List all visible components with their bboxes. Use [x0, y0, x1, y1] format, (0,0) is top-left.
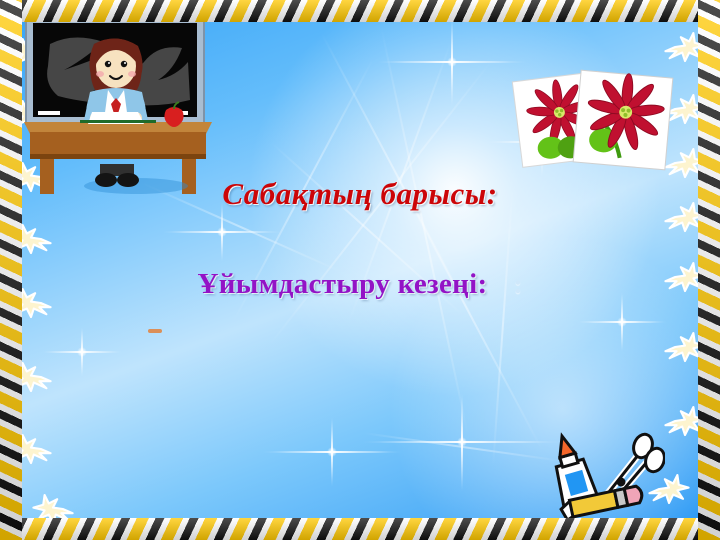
page-title: Сабақтың барысы: [0, 176, 720, 212]
trailing-colon: : [513, 269, 522, 300]
craft-supplies-illustration [535, 428, 665, 520]
light-streak [492, 188, 514, 467]
poinsettia-photo-cards [505, 62, 680, 177]
section-subtitle: Ұйымдастыру кезеңі: [198, 268, 488, 301]
border-tape-right [698, 0, 720, 540]
border-tape-bottom [0, 518, 720, 540]
teacher-at-desk-illustration [18, 14, 218, 194]
light-streak [380, 26, 469, 437]
bullet-dash [148, 329, 162, 333]
presentation-slide: Сабақтың барысы: Ұйымдастыру кезеңі: : [0, 0, 720, 540]
border-tape-left [0, 0, 22, 540]
border-tape-top [0, 0, 720, 22]
subtitle-row: Ұйымдастыру кезеңі: : [0, 268, 720, 301]
light-streak [364, 432, 562, 462]
